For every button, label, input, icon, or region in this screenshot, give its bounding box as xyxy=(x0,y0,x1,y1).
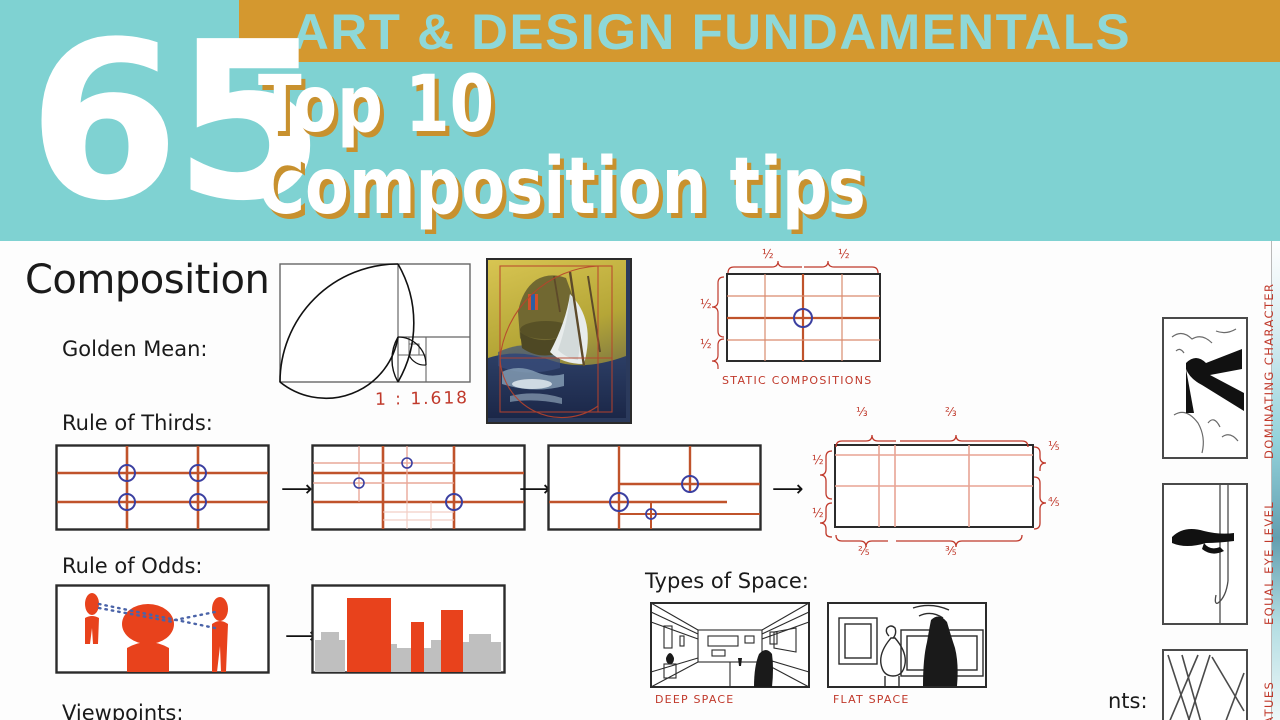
static-composition-caption: STATIC COMPOSITIONS xyxy=(722,374,873,387)
section-label-golden-mean: Golden Mean: xyxy=(62,337,207,361)
section-label-viewpoints-right: nts: xyxy=(1108,689,1148,713)
section-label-viewpoints: Viewpoints: xyxy=(62,701,183,720)
viewpoint-panel-dominating xyxy=(1162,317,1248,459)
viewpoint-panel-equal-eye-level xyxy=(1162,483,1248,625)
deep-space-caption: DEEP SPACE xyxy=(655,693,734,706)
arrow-icon-2: ⟶ xyxy=(519,479,551,501)
rule-of-thirds-grid-1 xyxy=(55,444,270,531)
golden-ratio-label: 1 : 1.618 xyxy=(375,388,469,410)
static-frac-left-upper: ½ xyxy=(700,297,712,311)
viewpoint-label-equal-eye-level: EQUAL EYE LEVEL xyxy=(1262,501,1276,625)
golden-mean-painting-example xyxy=(486,258,632,424)
viewpoint-panel-statues xyxy=(1162,649,1248,720)
composition-slide: Composition Golden Mean: Rule of Thirds:… xyxy=(0,241,1280,720)
dyn-frac-top-right: ⅔ xyxy=(945,405,957,419)
dyn-frac-left-upper: ½ xyxy=(812,453,824,467)
section-label-rule-of-odds: Rule of Odds: xyxy=(62,554,203,578)
arrow-icon-3: ⟶ xyxy=(772,479,804,501)
title-line-2: Composition tips xyxy=(258,148,866,226)
static-frac-top-left: ½ xyxy=(762,247,774,261)
viewpoint-label-dominating: DOMINATING CHARACTER xyxy=(1262,283,1276,459)
viewpoint-label-statues: STATUES xyxy=(1262,681,1276,720)
page-title: Composition xyxy=(25,258,269,302)
rule-of-odds-cityscape xyxy=(311,584,506,674)
dyn-frac-top-left: ⅓ xyxy=(856,405,868,419)
dyn-frac-right-lower: ⅘ xyxy=(1048,495,1060,509)
rule-of-odds-figures xyxy=(55,584,270,674)
dyn-frac-bottom-left: ⅖ xyxy=(858,544,870,558)
static-frac-top-right: ½ xyxy=(838,247,850,261)
arrow-icon-1: ⟶ xyxy=(281,479,313,501)
dyn-frac-bottom-right: ⅗ xyxy=(945,544,957,558)
section-label-rule-of-thirds: Rule of Thirds: xyxy=(62,411,213,435)
title-line-1: Top 10 xyxy=(258,66,494,144)
deep-space-diagram xyxy=(650,602,810,688)
dyn-frac-left-lower: ½ xyxy=(812,506,824,520)
flat-space-caption: FLAT SPACE xyxy=(833,693,909,706)
series-kicker: ART & DESIGN FUNDAMENTALS xyxy=(292,4,1280,60)
slide-screenshot: ART & DESIGN FUNDAMENTALS 65 Top 10 Comp… xyxy=(0,0,1280,720)
video-title-header: ART & DESIGN FUNDAMENTALS 65 Top 10 Comp… xyxy=(0,0,1280,241)
static-frac-left-lower: ½ xyxy=(700,337,712,351)
rule-of-thirds-grid-2 xyxy=(311,444,526,531)
flat-space-diagram xyxy=(827,602,987,688)
golden-spiral-diagram xyxy=(279,263,471,383)
section-label-types-of-space: Types of Space: xyxy=(645,569,809,593)
dyn-frac-right-upper: ⅕ xyxy=(1048,439,1060,453)
rule-of-thirds-grid-3 xyxy=(547,444,762,531)
